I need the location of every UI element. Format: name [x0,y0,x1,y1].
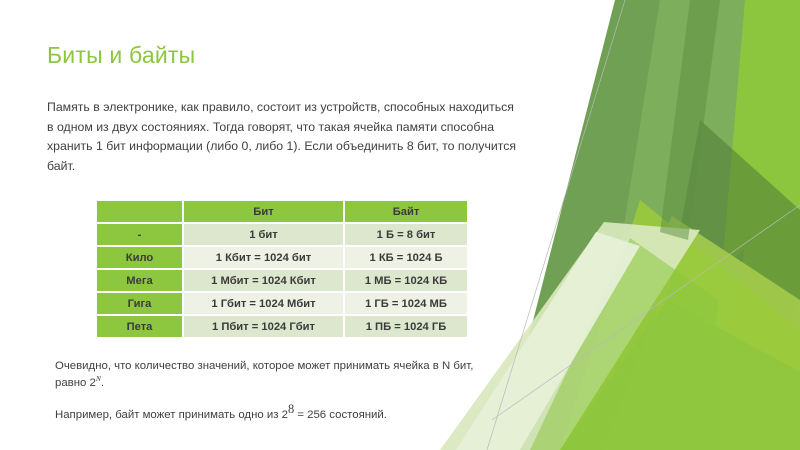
row-byte-value: 1 ПБ = 1024 ГБ [345,316,467,337]
row-bit-value: 1 Кбит = 1024 бит [184,247,343,268]
table-row: Кило 1 Кбит = 1024 бит 1 КБ = 1024 Б [97,247,467,268]
table-header-corner [97,201,182,222]
row-label: Гига [97,293,182,314]
row-label: Кило [97,247,182,268]
table-row: Мега 1 Мбит = 1024 Кбит 1 МБ = 1024 КБ [97,270,467,291]
note-formula-eight: Например, байт может принимать одно из 2… [55,407,485,424]
table-row: - 1 бит 1 Б = 8 бит [97,224,467,245]
note-one-text: Очевидно, что количество значений, котор… [55,360,473,389]
row-label: - [97,224,182,245]
intro-paragraph: Память в электронике, как правило, состо… [47,98,519,176]
slide-canvas: Биты и байты Память в электронике, как п… [0,0,800,450]
page-title: Биты и байты [47,42,195,69]
row-bit-value: 1 Мбит = 1024 Кбит [184,270,343,291]
table-header-bit: Бит [184,201,343,222]
row-label: Мега [97,270,182,291]
row-bit-value: 1 Пбит = 1024 Гбит [184,316,343,337]
table-header-byte: Байт [345,201,467,222]
row-byte-value: 1 КБ = 1024 Б [345,247,467,268]
row-label: Пета [97,316,182,337]
hairlines [487,0,800,450]
table-row: Гига 1 Гбит = 1024 Мбит 1 ГБ = 1024 МБ [97,293,467,314]
footer-notes: Очевидно, что количество значений, котор… [55,358,485,424]
row-bit-value: 1 Гбит = 1024 Мбит [184,293,343,314]
note-formula-n: Очевидно, что количество значений, котор… [55,358,485,392]
row-byte-value: 1 Б = 8 бит [345,224,467,245]
table-row: Пета 1 Пбит = 1024 Гбит 1 ПБ = 1024 ГБ [97,316,467,337]
note-one-suffix: . [101,377,104,389]
row-bit-value: 1 бит [184,224,343,245]
note-two-suffix: = 256 состояний. [294,409,387,421]
note-two-text: Например, байт может принимать одно из 2 [55,409,288,421]
bits-and-bytes-table: Бит Байт - 1 бит 1 Б = 8 бит Кило 1 Кбит… [95,199,469,339]
table-header-row: Бит Байт [97,201,467,222]
row-byte-value: 1 МБ = 1024 КБ [345,270,467,291]
row-byte-value: 1 ГБ = 1024 МБ [345,293,467,314]
